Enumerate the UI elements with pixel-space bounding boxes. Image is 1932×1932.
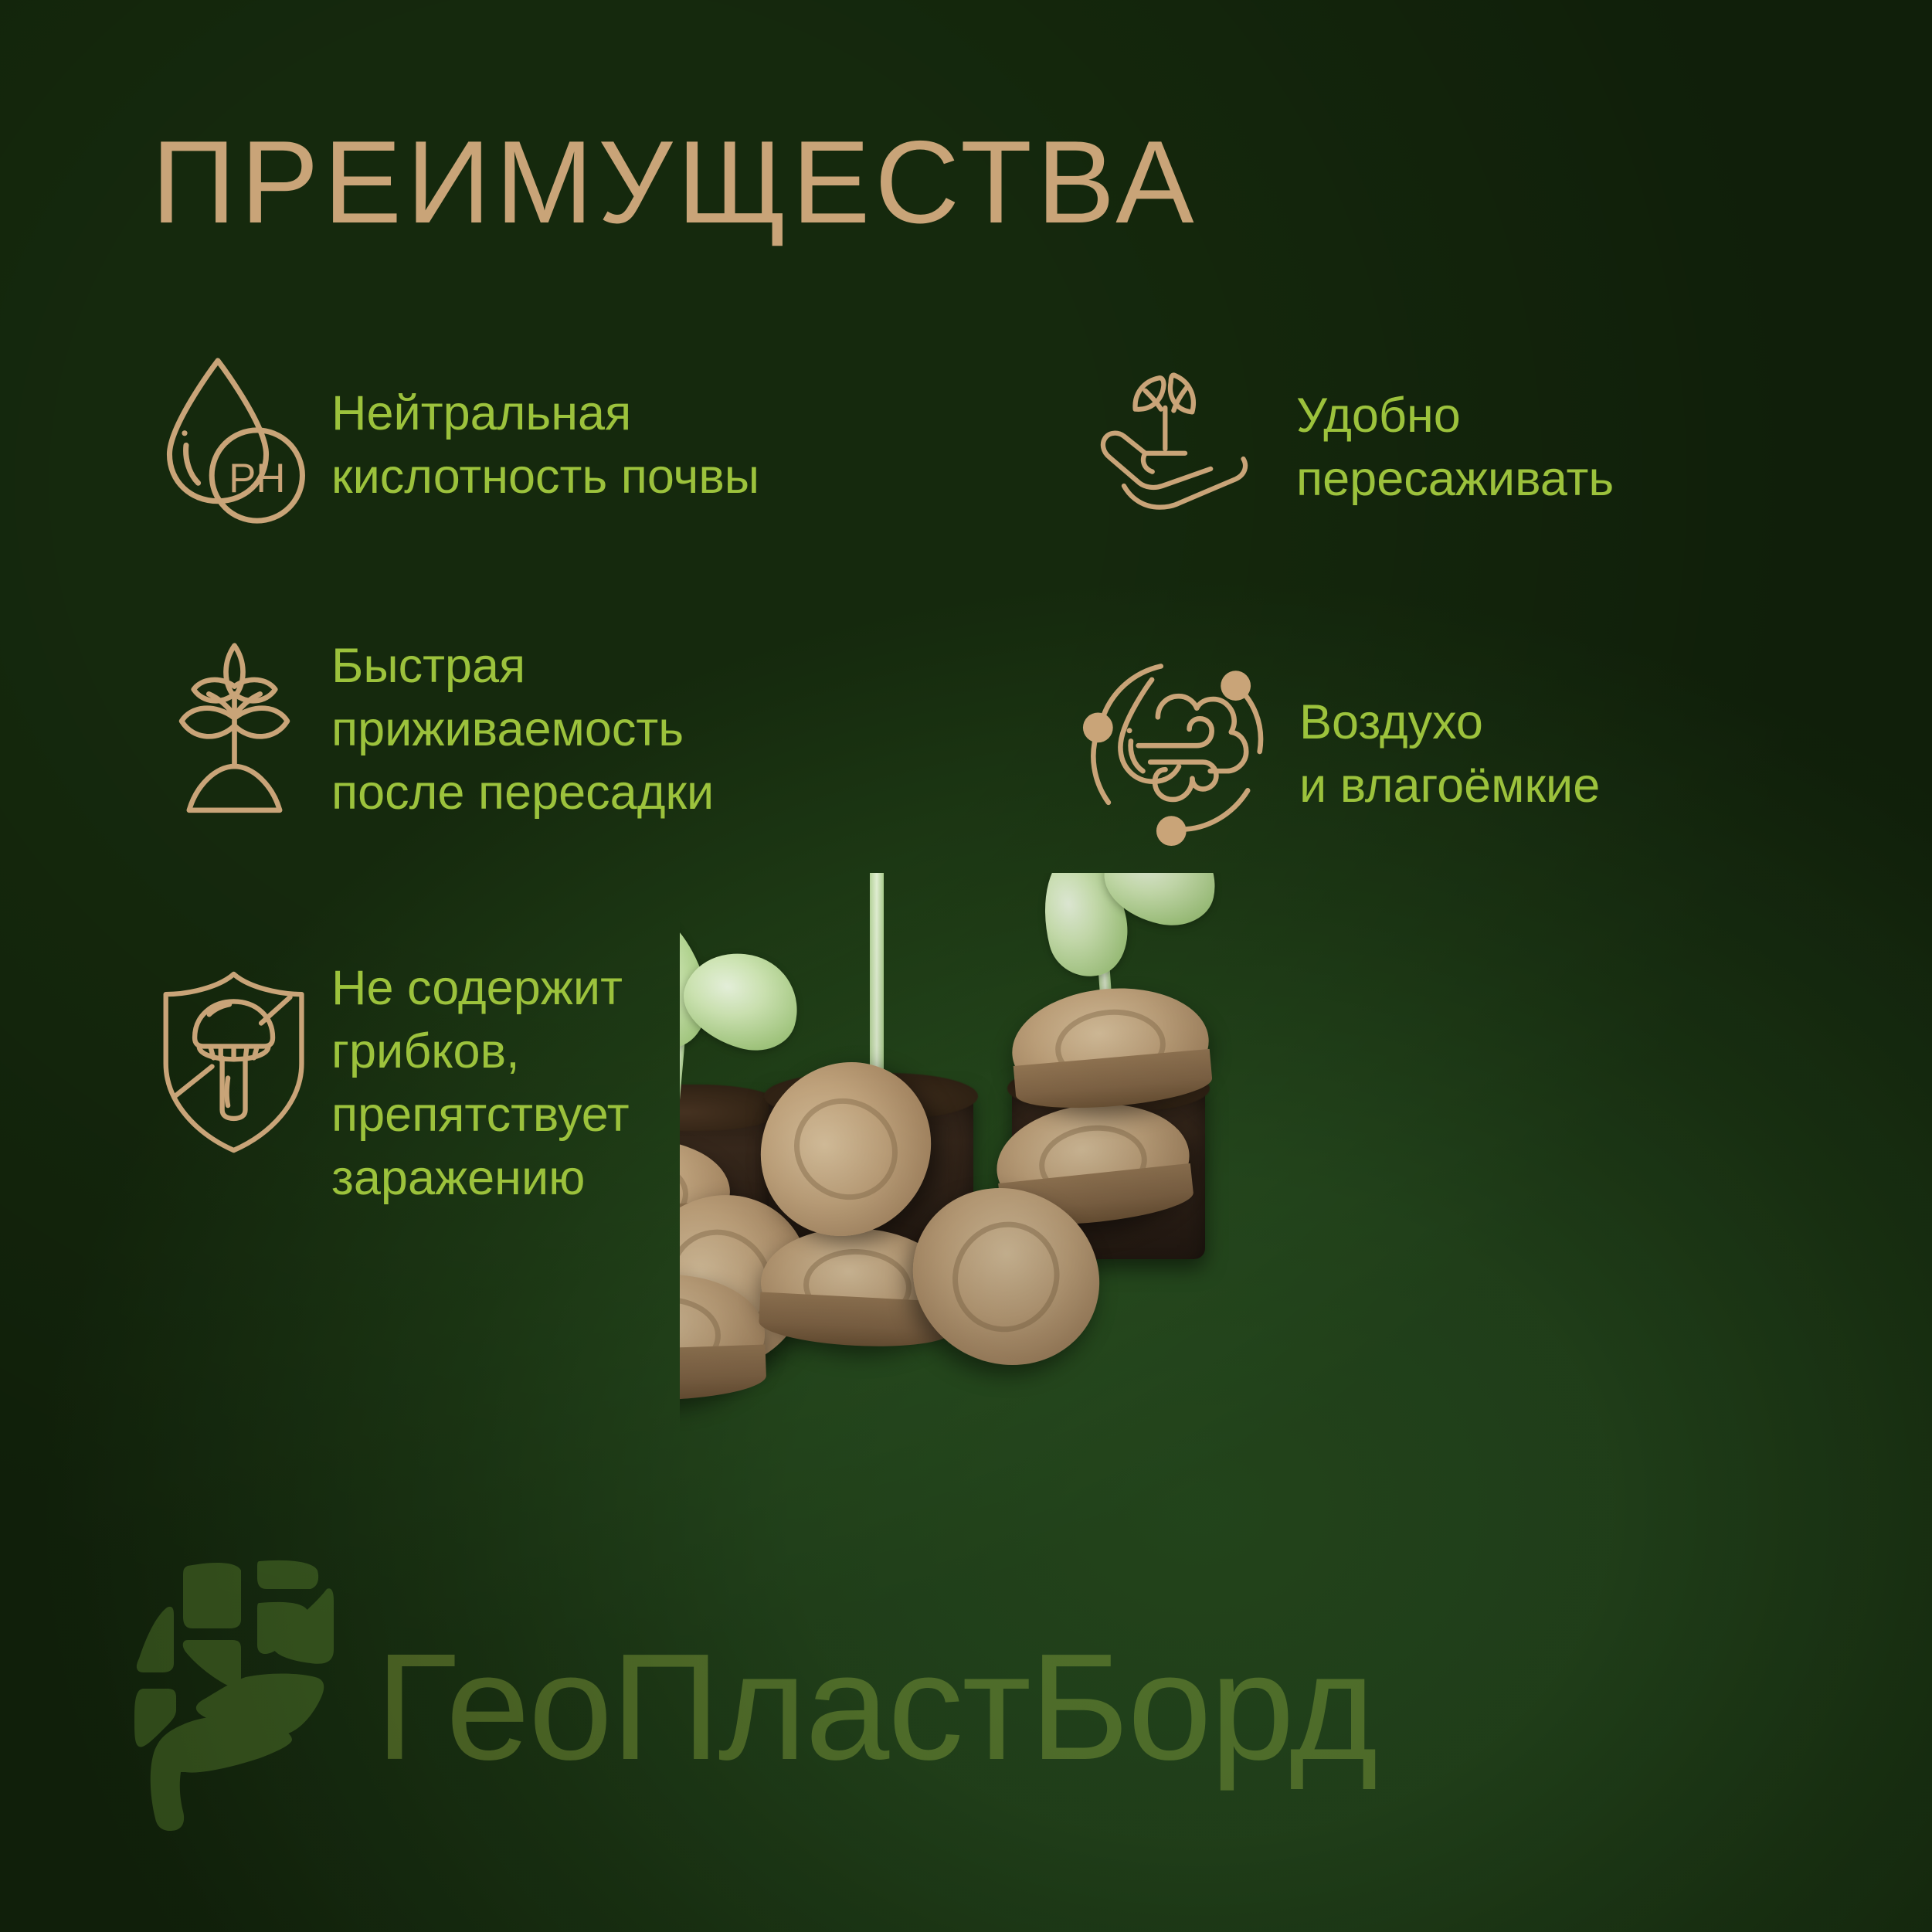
feature-label: Воздухо и влагоёмкие bbox=[1299, 691, 1600, 818]
promo-poster: ГеоПластБорд ПРЕИМУЩЕСТВА PH Нейтральная… bbox=[0, 0, 1932, 1932]
seedling-leaf bbox=[680, 940, 810, 1061]
feature-easy-transplant: Удобно пересаживать bbox=[1097, 359, 1614, 533]
tablet-ring bbox=[773, 1078, 918, 1221]
sprout-in-soil-icon bbox=[151, 618, 317, 823]
feature-label: Не содержит грибков, препятствует зараже… bbox=[331, 957, 630, 1210]
hand-holding-sprout-icon bbox=[1097, 359, 1275, 533]
feature-label: Удобно пересаживать bbox=[1296, 385, 1614, 511]
geoplastbord-leaf-logo bbox=[116, 1557, 348, 1858]
feature-neutral-acidity: PH Нейтральная кислотность почвы bbox=[151, 351, 759, 533]
page-title: ПРЕИМУЩЕСТВА bbox=[151, 124, 1199, 241]
feature-air-moisture: Воздухо и влагоёмкие bbox=[1081, 653, 1600, 847]
feature-label: Быстрая приживаемость после пересадки bbox=[331, 635, 714, 825]
dry-peat-tablet bbox=[1007, 980, 1214, 1113]
feature-no-fungi: Не содержит грибков, препятствует зараже… bbox=[151, 962, 630, 1210]
ph-water-drop-icon: PH bbox=[151, 351, 317, 533]
ph-label: PH bbox=[229, 456, 285, 501]
tablet-ring bbox=[934, 1204, 1078, 1350]
air-water-circulation-icon bbox=[1081, 653, 1276, 847]
feature-label: Нейтральная кислотность почвы bbox=[331, 382, 759, 509]
shield-mushroom-blocked-icon bbox=[151, 962, 317, 1163]
peat-pellets-with-seedlings-photo bbox=[680, 873, 1932, 1932]
tablet-side bbox=[680, 1344, 767, 1403]
feature-fast-rooting: Быстрая приживаемость после пересадки bbox=[151, 618, 714, 825]
